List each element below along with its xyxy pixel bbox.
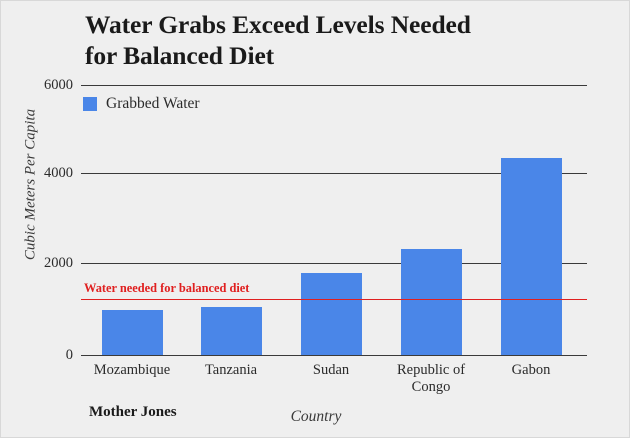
x-axis-line (81, 355, 587, 356)
chart-title-line-1: Water Grabs Exceed Levels Needed (85, 9, 555, 40)
x-tick-label-line: Congo (371, 379, 491, 396)
legend-label-grabbed-water: Grabbed Water (106, 95, 200, 113)
chart-legend: Grabbed Water (83, 95, 200, 113)
plot-area: Water needed for balanced diet (81, 85, 587, 356)
bar-sudan (301, 273, 362, 356)
bar-mozambique (102, 310, 163, 356)
bar-gabon (501, 158, 562, 356)
y-tick-label-2000: 2000 (17, 255, 73, 272)
source-credit: Mother Jones (89, 404, 177, 421)
x-tick-label-line: Gabon (471, 362, 591, 379)
bar-republic-of-congo (401, 249, 462, 356)
chart-title-line-2: for Balanced Diet (85, 40, 555, 71)
chart-container: Water Grabs Exceed Levels Needed for Bal… (0, 0, 630, 438)
y-tick-label-4000: 4000 (17, 165, 73, 182)
gridline-6000 (81, 85, 587, 86)
chart-title: Water Grabs Exceed Levels Needed for Bal… (85, 9, 555, 71)
grabbed-water-swatch-icon (83, 97, 97, 111)
reference-line (81, 299, 587, 300)
bar-tanzania (201, 307, 262, 356)
x-tick-label-gabon: Gabon (471, 362, 591, 379)
y-tick-label-0: 0 (17, 347, 73, 364)
y-tick-label-6000: 6000 (17, 77, 73, 94)
reference-line-label: Water needed for balanced diet (84, 281, 249, 296)
